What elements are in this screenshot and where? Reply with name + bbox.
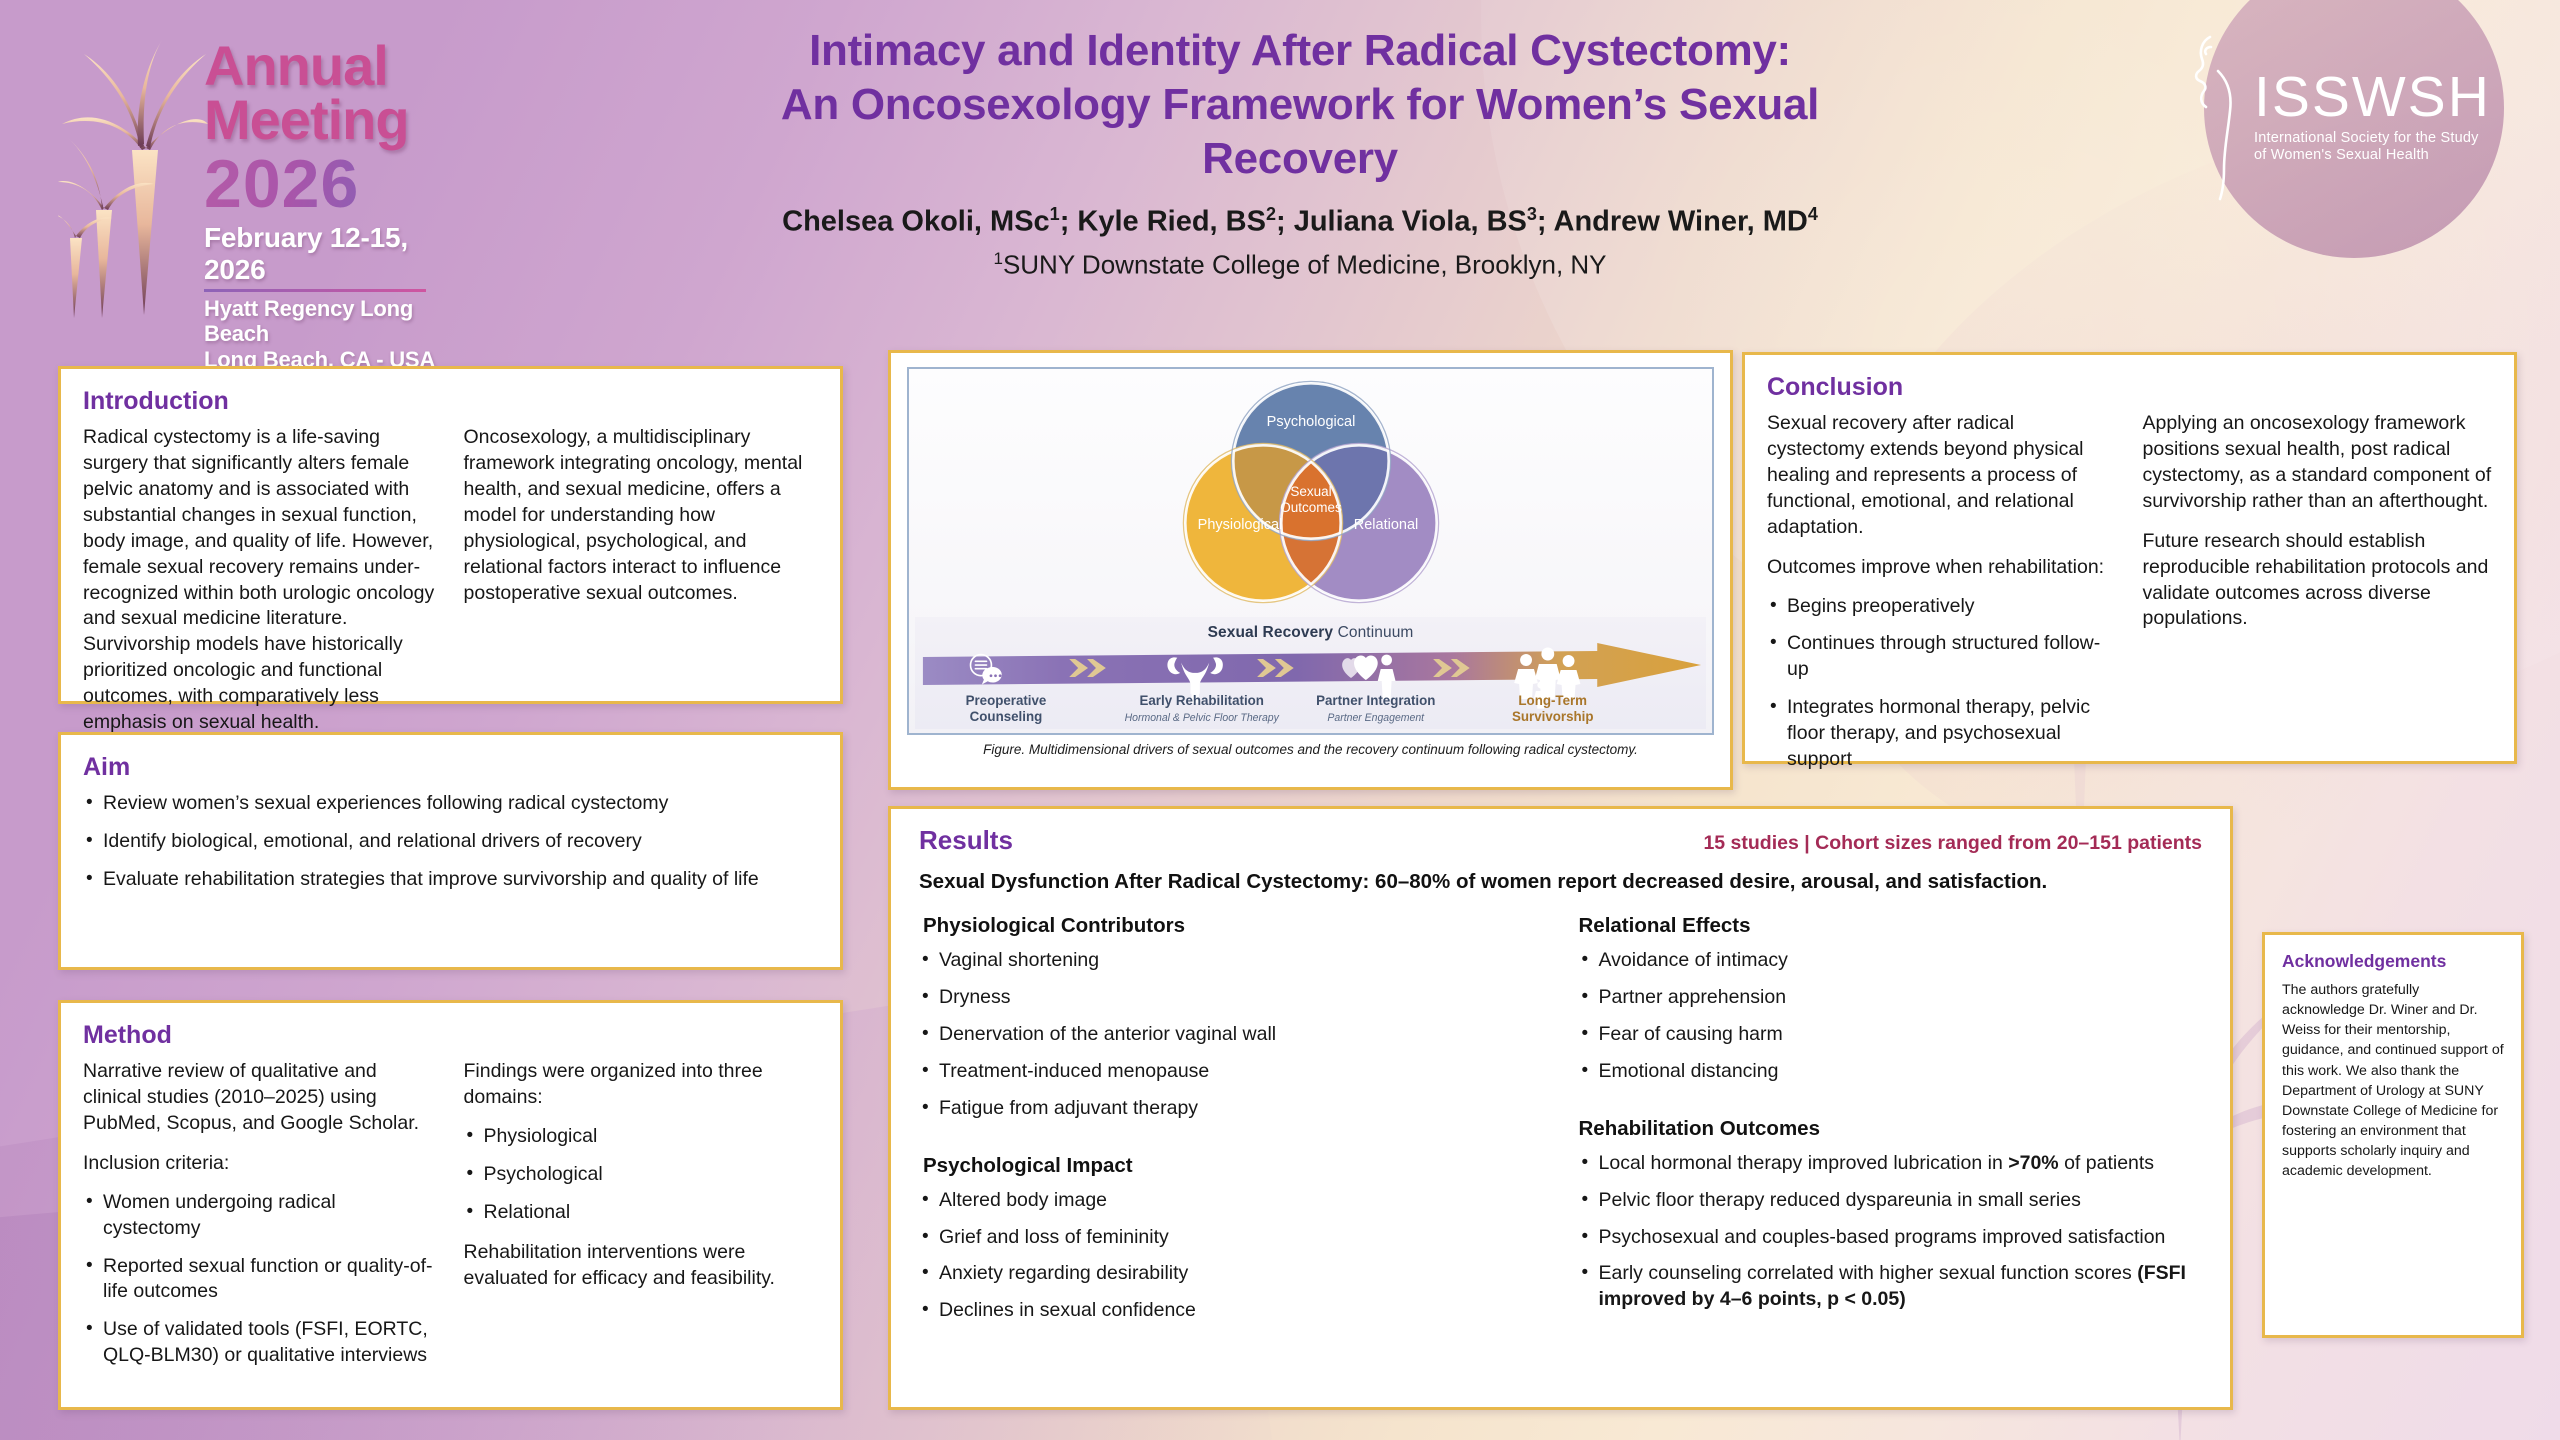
list-item: Early counseling correlated with higher …: [1579, 1261, 2203, 1313]
physiological-contributors-list: Vaginal shortening Dryness Denervation o…: [919, 948, 1543, 1122]
continuum-title-rest: Continuum: [1333, 624, 1413, 641]
relational-effects-list: Avoidance of intimacy Partner apprehensi…: [1579, 948, 2203, 1085]
list-item: Physiological: [464, 1124, 819, 1150]
list-item: Emotional distancing: [1579, 1059, 2203, 1085]
logo-divider: [204, 289, 426, 292]
conclusion-paragraph-1: Sexual recovery after radical cystectomy…: [1767, 411, 2117, 541]
list-item: Fear of causing harm: [1579, 1022, 2203, 1048]
list-item: Fatigue from adjuvant therapy: [919, 1096, 1543, 1122]
list-item: Continues through structured follow-up: [1767, 631, 2117, 683]
stage-3-label-1: Partner Integration: [1316, 693, 1435, 708]
introduction-heading: Introduction: [83, 387, 818, 416]
conclusion-heading: Conclusion: [1767, 373, 2492, 402]
conclusion-panel: Conclusion Sexual recovery after radical…: [1742, 352, 2517, 764]
logo-meeting-text: Meeting: [204, 93, 458, 148]
acknowledgements-panel: Acknowledgements The authors gratefully …: [2262, 932, 2524, 1338]
figure-caption: Figure. Multidimensional drivers of sexu…: [907, 742, 1714, 757]
method-heading: Method: [83, 1021, 818, 1050]
list-item: Identify biological, emotional, and rela…: [83, 829, 818, 855]
stage-3-sublabel: Partner Engagement: [1327, 712, 1425, 724]
introduction-panel: Introduction Radical cystectomy is a lif…: [58, 366, 843, 704]
list-item: Declines in sexual confidence: [919, 1298, 1543, 1324]
title-line-2: An Oncosexology Framework for Women’s Se…: [781, 80, 1819, 129]
venn-diagram: Psychological Physiological Relational S…: [909, 369, 1712, 621]
continuum-title: Sexual Recovery Continuum: [915, 617, 1706, 642]
venn-label-relational: Relational: [1353, 517, 1418, 533]
list-item: Dryness: [919, 985, 1543, 1011]
list-item: Integrates hormonal therapy, pelvic floo…: [1767, 695, 2117, 773]
list-item: Anxiety regarding desirability: [919, 1261, 1543, 1287]
logo-year-text: 2026: [204, 150, 458, 218]
results-panel: Results 15 studies | Cohort sizes ranged…: [888, 806, 2233, 1410]
psychological-impact-heading: Psychological Impact: [919, 1154, 1543, 1178]
author-list: Chelsea Okoli, MSc1; Kyle Ried, BS2; Jul…: [560, 204, 2040, 239]
title-block: Intimacy and Identity After Radical Cyst…: [560, 24, 2040, 280]
results-lead-statement: Sexual Dysfunction After Radical Cystect…: [919, 870, 2202, 894]
continuum-title-bold: Sexual Recovery: [1208, 624, 1334, 641]
logo-dates-text: February 12-15, 2026: [204, 222, 458, 286]
aim-bullet-list: Review women’s sexual experiences follow…: [83, 791, 818, 893]
list-item: Denervation of the anterior vaginal wall: [919, 1022, 1543, 1048]
list-item: Treatment-induced menopause: [919, 1059, 1543, 1085]
method-domain-list: Physiological Psychological Relational: [464, 1124, 819, 1226]
list-item: Altered body image: [919, 1188, 1543, 1214]
stage-1-label-1: Preoperative: [966, 693, 1047, 708]
stage-4-label-1: Long-Term: [1518, 693, 1587, 708]
list-item: Vaginal shortening: [919, 948, 1543, 974]
logo-annual-text: Annual: [204, 40, 458, 93]
page-title: Intimacy and Identity After Radical Cyst…: [560, 24, 2040, 186]
venn-diagram-svg: Psychological Physiological Relational S…: [1146, 373, 1476, 623]
results-study-count: 15 studies | Cohort sizes ranged from 20…: [1703, 832, 2202, 855]
poster-header: Annual Meeting 2026 February 12-15, 2026…: [0, 0, 2560, 330]
list-item: Relational: [464, 1200, 819, 1226]
aim-panel: Aim Review women’s sexual experiences fo…: [58, 732, 843, 970]
stage-2-sublabel: Hormonal & Pelvic Floor Therapy: [1125, 712, 1280, 724]
list-item: Use of validated tools (FSFI, EORTC, QLQ…: [83, 1317, 438, 1369]
psychological-impact-list: Altered body image Grief and loss of fem…: [919, 1188, 1543, 1325]
rehabilitation-outcomes-heading: Rehabilitation Outcomes: [1579, 1117, 2203, 1141]
method-paragraph-3: Rehabilitation interventions were evalua…: [464, 1240, 819, 1292]
affiliation: 1SUNY Downstate College of Medicine, Bro…: [560, 249, 2040, 281]
conclusion-paragraph-4: Future research should establish reprodu…: [2143, 529, 2493, 633]
title-line-1: Intimacy and Identity After Radical Cyst…: [809, 26, 1791, 75]
venn-label-physiological: Physiological: [1197, 517, 1282, 533]
venn-label-psychological: Psychological: [1266, 414, 1355, 430]
figure-image: Psychological Physiological Relational S…: [907, 367, 1714, 735]
continuum-arrow-svg: Preoperative Counseling Early Rehabilita…: [915, 643, 1706, 729]
method-paragraph-1: Narrative review of qualitative and clin…: [83, 1059, 438, 1137]
title-line-3: Recovery: [1202, 134, 1398, 183]
recovery-continuum: Sexual Recovery Continuum: [915, 617, 1706, 729]
introduction-text-col1: Radical cystectomy is a life-saving surg…: [83, 425, 438, 736]
list-item: Women undergoing radical cystectomy: [83, 1190, 438, 1242]
stage-4-label-2: Survivorship: [1512, 709, 1593, 724]
list-item: Grief and loss of femininity: [919, 1225, 1543, 1251]
figure-panel: Psychological Physiological Relational S…: [888, 350, 1733, 790]
list-item: Review women’s sexual experiences follow…: [83, 791, 818, 817]
stage-1-label-2: Counseling: [970, 709, 1043, 724]
conclusion-bullet-list: Begins preoperatively Continues through …: [1767, 594, 2117, 774]
conclusion-paragraph-2: Outcomes improve when rehabilitation:: [1767, 555, 2117, 581]
stage-2-label-1: Early Rehabilitation: [1140, 693, 1264, 708]
rehabilitation-outcomes-list: Local hormonal therapy improved lubricat…: [1579, 1151, 2203, 1314]
method-inclusion-list: Women undergoing radical cystectomy Repo…: [83, 1190, 438, 1370]
list-item: Partner apprehension: [1579, 985, 2203, 1011]
method-panel: Method Narrative review of qualitative a…: [58, 1000, 843, 1410]
list-item: Pelvic floor therapy reduced dyspareunia…: [1579, 1188, 2203, 1214]
results-heading: Results: [919, 825, 1013, 856]
list-item: Reported sexual function or quality-of-l…: [83, 1254, 438, 1306]
list-item: Psychosexual and couples-based programs …: [1579, 1225, 2203, 1251]
venn-label-center-1: Sexual: [1290, 484, 1331, 499]
list-item: Avoidance of intimacy: [1579, 948, 2203, 974]
conclusion-paragraph-3: Applying an oncosexology framework posit…: [2143, 411, 2493, 515]
poster-canvas: ISSWSH International Society for the Stu…: [0, 0, 2560, 1440]
method-domains-intro: Findings were organized into three domai…: [464, 1059, 819, 1111]
introduction-text-col2: Oncosexology, a multidisciplinary framew…: [464, 425, 819, 606]
list-item: Psychological: [464, 1162, 819, 1188]
list-item: Evaluate rehabilitation strategies that …: [83, 867, 818, 893]
method-paragraph-2: Inclusion criteria:: [83, 1151, 438, 1177]
aim-heading: Aim: [83, 753, 818, 782]
logo-venue-text: Hyatt Regency Long Beach: [204, 296, 458, 348]
list-item: Begins preoperatively: [1767, 594, 2117, 620]
relational-effects-heading: Relational Effects: [1579, 914, 2203, 938]
venn-label-center-2: Outcomes: [1280, 500, 1342, 515]
palm-trees-logo-icon: [58, 40, 208, 320]
physiological-contributors-heading: Physiological Contributors: [919, 914, 1543, 938]
acknowledgements-text: The authors gratefully acknowledge Dr. W…: [2282, 980, 2504, 1182]
acknowledgements-heading: Acknowledgements: [2282, 951, 2504, 972]
list-item: Local hormonal therapy improved lubricat…: [1579, 1151, 2203, 1177]
annual-meeting-logo: Annual Meeting 2026 February 12-15, 2026…: [58, 26, 458, 316]
